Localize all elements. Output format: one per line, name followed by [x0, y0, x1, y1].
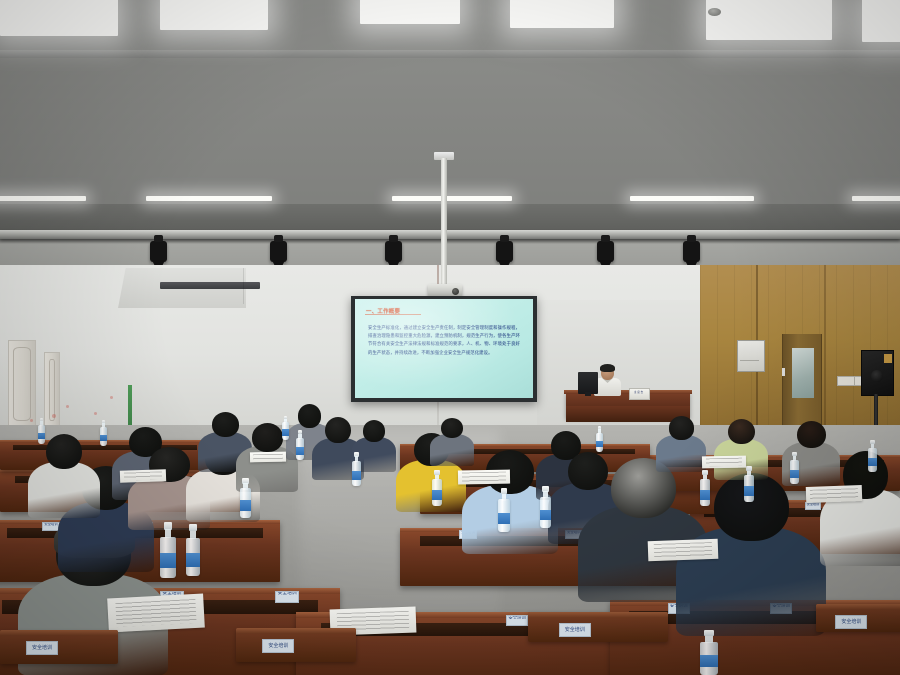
- audience-member-head: [212, 412, 239, 437]
- audience-member: [820, 446, 900, 566]
- ceiling-soffit: [0, 50, 900, 58]
- bottle-label: [282, 429, 289, 435]
- wall-mark-1: [30, 419, 33, 422]
- paper-text-lines: [653, 542, 712, 558]
- presenter-hair: [600, 364, 615, 372]
- bottle-label: [868, 458, 877, 466]
- truss-shadow: [0, 239, 900, 244]
- monitor-stand: [585, 392, 591, 396]
- paper-text-lines: [810, 488, 857, 501]
- ceiling-panel-light-4: [510, 0, 614, 28]
- bottle-label: [186, 553, 200, 567]
- seat-label-text: 安全培训: [836, 616, 866, 628]
- bottle-label: [352, 471, 361, 480]
- seat-label-text: 安全培训: [560, 624, 590, 636]
- paper-text-lines: [705, 458, 742, 467]
- audience-member-head: [363, 420, 385, 442]
- ceiling-panel-light-2: [160, 0, 268, 30]
- slide-title-underline: [365, 314, 421, 315]
- door-panel-molding: [13, 347, 31, 421]
- wood-wall-seam-2: [824, 265, 826, 428]
- paper-text-lines: [115, 599, 197, 626]
- seat-label: 安全培训: [275, 591, 299, 603]
- ceiling-panel-light-3: [360, 0, 460, 24]
- handout-paper: [120, 469, 166, 483]
- wall-mark-5: [110, 396, 113, 399]
- stage-light-5: [597, 241, 614, 262]
- chair-back-top-rail: [528, 612, 668, 618]
- water-bottle: [700, 470, 710, 506]
- seat-label-text: 安全培训: [27, 642, 57, 654]
- bottle-label: [498, 513, 510, 524]
- water-bottle: [868, 440, 877, 472]
- door-handle-icon[interactable]: [782, 368, 785, 376]
- bottle-label: [790, 470, 799, 478]
- paper-text-lines: [462, 472, 506, 482]
- audience-member-torso: [28, 462, 100, 518]
- ceiling-strip-light-3: [392, 196, 512, 201]
- pa-speaker-cone-icon: [871, 370, 883, 382]
- stage-light-1: [150, 241, 167, 262]
- audience-member-torso: [430, 434, 474, 466]
- stage-light-3: [385, 241, 402, 262]
- bottle-label: [160, 553, 176, 568]
- ceiling-vent: [160, 282, 260, 289]
- ceiling-panel-light-6: [862, 0, 900, 42]
- seat-label-text: 安全培训: [263, 640, 293, 652]
- bottle-label: [240, 500, 251, 510]
- audience-member-head: [441, 418, 463, 438]
- stage-light-2: [270, 241, 287, 262]
- audience-member-head: [669, 416, 694, 439]
- podium-monitor: [578, 372, 598, 394]
- handout-paper: [458, 470, 510, 485]
- conference-room-photo: 主 席 台 一、工作概要 安全生产标准化，通过建立安全生产责任制，制定安全管理制…: [0, 0, 900, 675]
- door-panel-molding: [49, 359, 55, 421]
- wall-mark-3: [52, 414, 56, 418]
- bottle-label: [744, 486, 754, 495]
- water-bottle: [296, 430, 304, 460]
- handout-paper: [648, 539, 719, 561]
- slide-body-text: 安全生产标准化，通过建立安全生产责任制，制定安全管理制度和操作规程，排查治理隐患…: [368, 324, 520, 357]
- handout-paper: [107, 594, 205, 633]
- water-bottle: [352, 452, 361, 486]
- wall-mark-2: [66, 405, 69, 408]
- ceiling-panel-light-5: [706, 0, 832, 40]
- audience-member-head: [46, 434, 82, 469]
- seat-label-text: 安全培训: [507, 616, 527, 619]
- audience-member-head: [252, 423, 283, 452]
- water-bottle: [186, 524, 200, 576]
- audience-member-head: [325, 417, 351, 443]
- paper-text-lines: [253, 453, 283, 460]
- pa-speaker-tag: [884, 354, 892, 363]
- door-glass-pane: [792, 348, 814, 398]
- ceiling-strip-light-2: [146, 196, 272, 201]
- ceiling-strip-light-5: [852, 196, 900, 201]
- wall-control-box[interactable]: [737, 340, 765, 372]
- podium-nameplate-text: 主 席 台: [630, 390, 647, 394]
- handout-paper: [702, 456, 746, 469]
- pa-speaker-stand: [874, 394, 878, 428]
- wall-mark-4: [94, 412, 97, 415]
- ceiling-strip-light-1: [0, 196, 86, 201]
- left-wall-door-1[interactable]: [8, 340, 36, 428]
- water-bottle: [160, 522, 176, 578]
- seat-label: 安全培训: [26, 641, 58, 655]
- audience-member-head: [728, 419, 755, 445]
- bottle-label: [700, 490, 710, 499]
- audience-member: [656, 414, 706, 472]
- water-bottle: [282, 416, 289, 440]
- ceiling-strip-light-4: [630, 196, 754, 201]
- water-bottle: [700, 630, 718, 675]
- projector-lens-icon: [452, 288, 459, 295]
- seat-label: 安全培训: [559, 623, 591, 637]
- water-bottle: [432, 470, 442, 506]
- handout-paper: [806, 485, 863, 503]
- paper-text-lines: [124, 471, 163, 481]
- seat-label: 安全培训: [835, 615, 867, 629]
- water-bottle: [498, 488, 510, 532]
- lighting-truss-rail: [0, 230, 900, 239]
- bottle-label: [540, 510, 551, 521]
- wall-outlet-icon[interactable]: [837, 376, 855, 386]
- water-bottle: [100, 420, 107, 446]
- audience-member-torso: [396, 460, 466, 512]
- stage-light-4: [496, 241, 513, 262]
- water-bottle: [540, 486, 551, 528]
- water-bottle: [790, 452, 799, 484]
- audience-member: [430, 416, 474, 466]
- audience-member: [714, 416, 768, 480]
- projector-mount-pole: [441, 158, 447, 286]
- seat-label: 安全培训: [506, 615, 528, 626]
- water-bottle: [596, 426, 603, 452]
- bottle-label: [432, 490, 442, 499]
- chair-back-top-rail: [0, 630, 118, 636]
- chair-back-top-rail: [236, 628, 356, 634]
- seat-label: 安全培训: [262, 639, 294, 653]
- bottle-label: [596, 441, 603, 448]
- chair-back-top-rail: [816, 604, 900, 610]
- ceiling-panel-light-1: [0, 0, 118, 36]
- water-bottle: [744, 466, 754, 502]
- water-bottle: [38, 418, 45, 444]
- bottle-label: [100, 435, 107, 442]
- wall-seam-secondary: [243, 268, 244, 304]
- bottle-label: [296, 447, 304, 455]
- wall-control-box-line: [740, 360, 759, 361]
- stage-light-6: [683, 241, 700, 262]
- handout-paper: [250, 452, 286, 463]
- smoke-detector-icon: [708, 8, 721, 16]
- seat-label-text: 安全培训: [276, 592, 298, 595]
- audience-member-torso: [656, 435, 706, 472]
- bottle-label: [700, 655, 718, 667]
- bottle-label: [38, 433, 45, 440]
- water-bottle: [240, 478, 251, 518]
- audience-member-head: [797, 421, 826, 448]
